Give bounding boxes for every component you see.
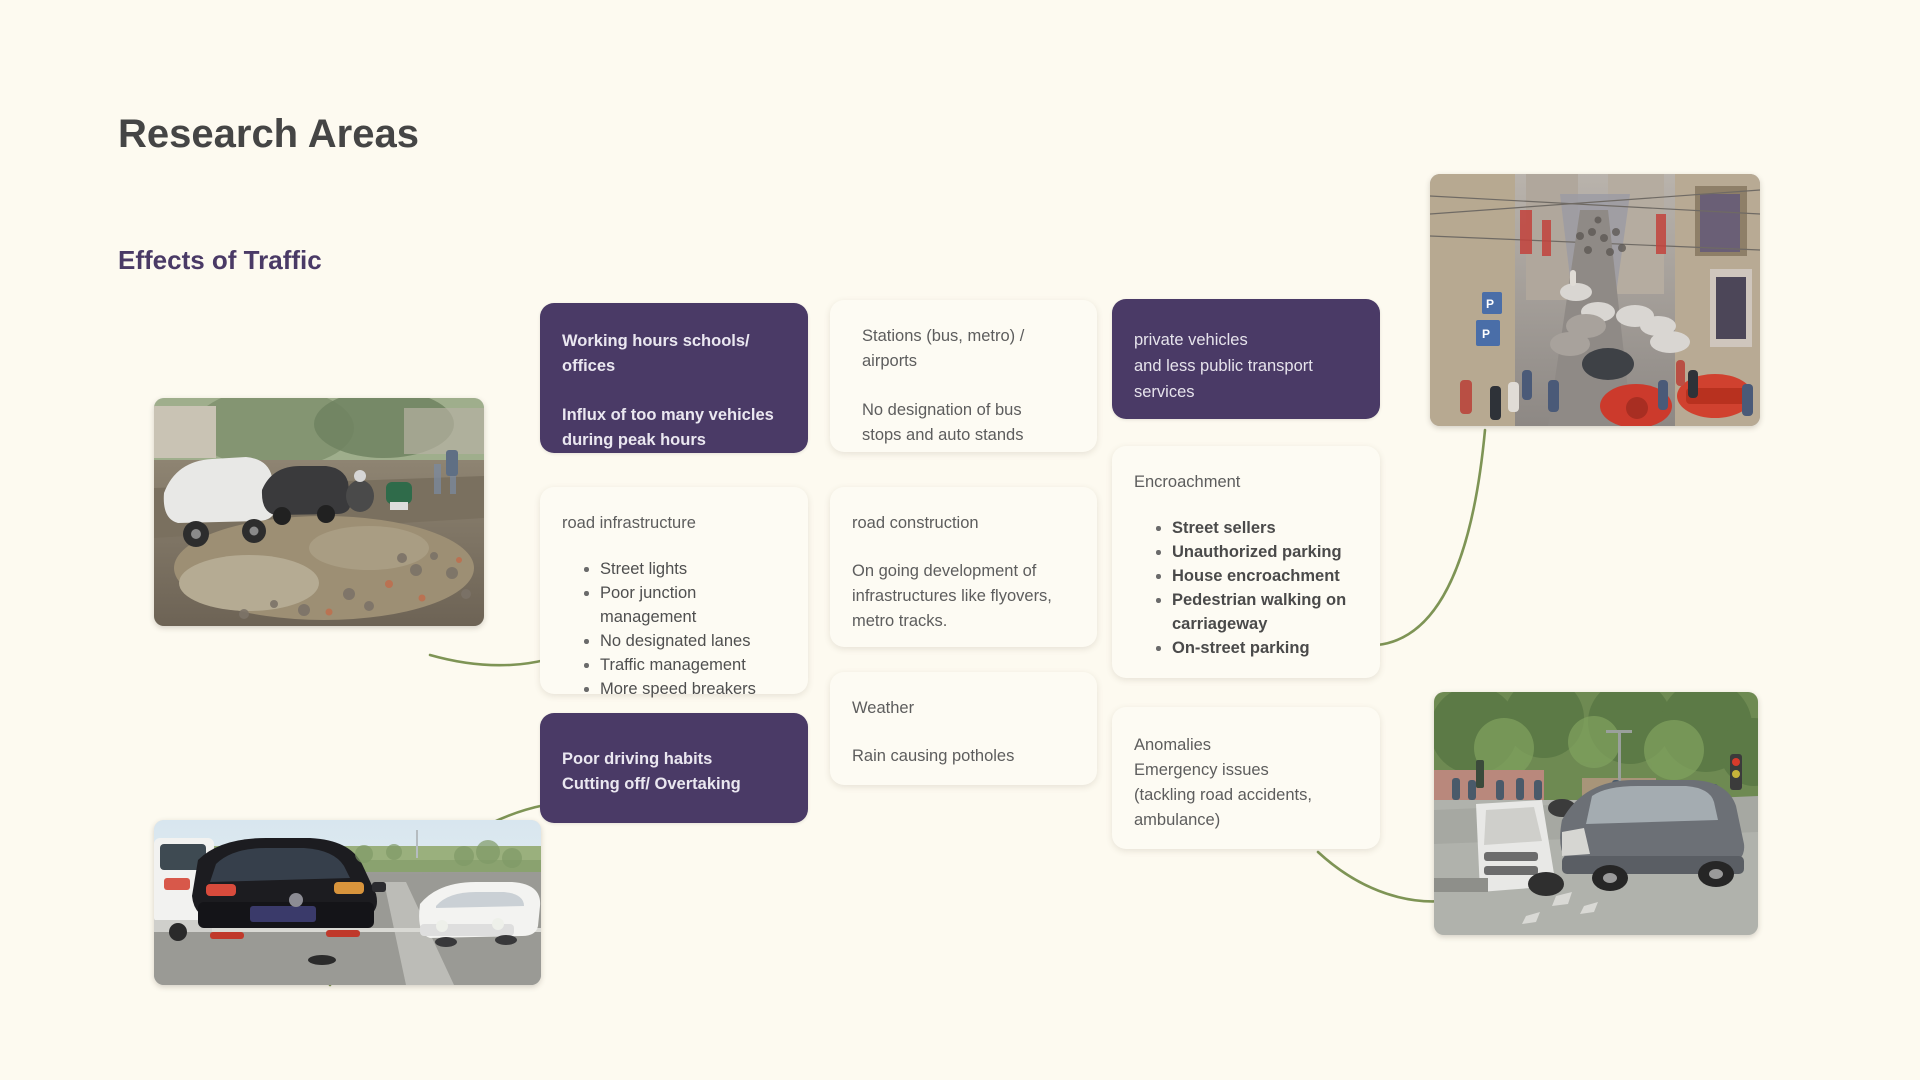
road-infrastructure-bullets: Street lights Poor junction management N… — [582, 557, 786, 701]
stations-line-2: No designation of bus stops and auto sta… — [862, 398, 1075, 448]
list-item: On-street parking — [1154, 636, 1358, 660]
working-hours-line-1: Working hours schools/ offices — [562, 329, 786, 379]
encroachment-heading: Encroachment — [1134, 470, 1358, 494]
list-item: No designated lanes — [582, 629, 786, 653]
list-item: More speed breakers — [582, 677, 786, 701]
road-construction-heading: road construction — [852, 511, 1075, 535]
road-construction-card[interactable]: road construction On going development o… — [830, 487, 1097, 647]
list-item: Street lights — [582, 557, 786, 581]
list-item: Poor junction management — [582, 581, 786, 629]
card-body: Encroachment Street sellers Unauthorized… — [1112, 446, 1380, 682]
weather-heading: Weather — [852, 696, 1075, 720]
stations-line-1: Stations (bus, metro) / airports — [862, 324, 1075, 374]
weather-line-1: Rain causing potholes — [852, 744, 1075, 769]
road-construction-line-1: On going development of infrastructures … — [852, 559, 1075, 634]
svg-text:P: P — [1482, 327, 1490, 341]
card-body: private vehicles and less public transpo… — [1112, 299, 1380, 429]
svg-text:P: P — [1486, 297, 1494, 311]
card-body: Stations (bus, metro) / airports No desi… — [830, 300, 1097, 470]
road-infrastructure-heading: road infrastructure — [562, 511, 786, 535]
road-infrastructure-card[interactable]: road infrastructure Street lights Poor j… — [540, 487, 808, 694]
private-vehicles-line-1: private vehicles and less public transpo… — [1134, 327, 1358, 405]
anomalies-line-1: Anomalies Emergency issues (tackling roa… — [1134, 733, 1358, 833]
encroachment-bullets: Street sellers Unauthorized parking Hous… — [1154, 516, 1358, 660]
list-item: Street sellers — [1154, 516, 1358, 540]
page-title: Research Areas — [118, 112, 419, 157]
poor-driving-habits-card[interactable]: Poor driving habits Cutting off/ Overtak… — [540, 713, 808, 823]
list-item: Traffic management — [582, 653, 786, 677]
poor-driving-line-1: Poor driving habits Cutting off/ Overtak… — [562, 747, 786, 797]
card-body: Working hours schools/ offices Influx of… — [540, 303, 808, 477]
card-body: Poor driving habits Cutting off/ Overtak… — [540, 713, 808, 821]
photo-road-accident — [1434, 692, 1758, 935]
card-body: Weather Rain causing potholes — [830, 672, 1097, 791]
photo-crowded-market-street: PP — [1430, 174, 1760, 426]
list-item: Pedestrian walking on carriageway — [1154, 588, 1358, 636]
weather-card[interactable]: Weather Rain causing potholes — [830, 672, 1097, 785]
list-item: House encroachment — [1154, 564, 1358, 588]
card-body: road construction On going development o… — [830, 487, 1097, 656]
mindmap-board: Research Areas Effects of Traffic — [0, 0, 1920, 1080]
encroachment-card[interactable]: Encroachment Street sellers Unauthorized… — [1112, 446, 1380, 678]
list-item: Unauthorized parking — [1154, 540, 1358, 564]
stations-card[interactable]: Stations (bus, metro) / airports No desi… — [830, 300, 1097, 452]
anomalies-card[interactable]: Anomalies Emergency issues (tackling roa… — [1112, 707, 1380, 849]
working-hours-line-2: Influx of too many vehicles during peak … — [562, 403, 786, 453]
working-hours-card[interactable]: Working hours schools/ offices Influx of… — [540, 303, 808, 453]
photo-pothole-road — [154, 398, 484, 626]
section-title: Effects of Traffic — [118, 245, 322, 276]
card-body: Anomalies Emergency issues (tackling roa… — [1112, 707, 1380, 855]
connector-encroachment-to-market-street — [1377, 430, 1485, 645]
private-vehicles-card[interactable]: private vehicles and less public transpo… — [1112, 299, 1380, 419]
card-body: road infrastructure Street lights Poor j… — [540, 487, 808, 723]
photo-highway-overtaking — [154, 820, 541, 985]
